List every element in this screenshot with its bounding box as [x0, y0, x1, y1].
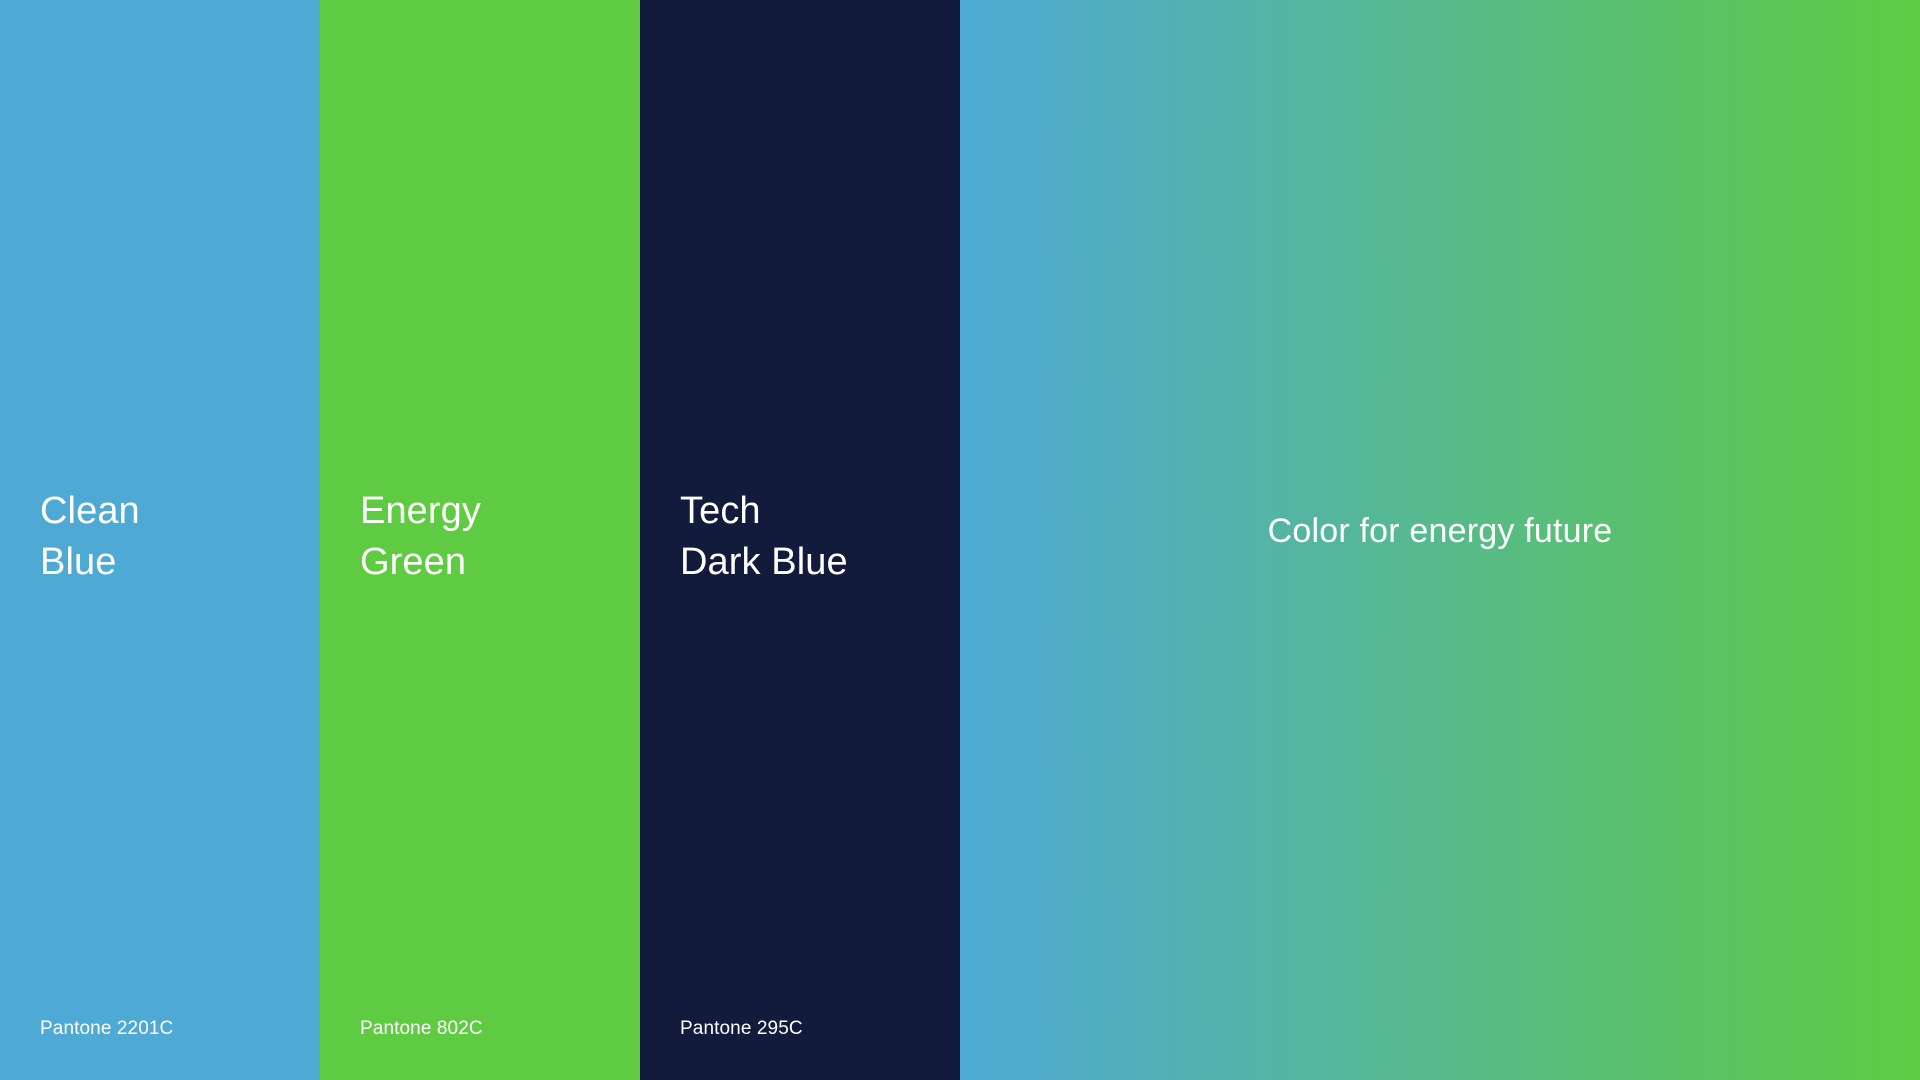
gradient-panel: Color for energy future	[960, 0, 1920, 1080]
swatch-name-clean-blue: Clean Blue	[40, 486, 140, 588]
swatch-pantone-code-energy-green: Pantone 802C	[360, 1016, 483, 1042]
swatch-name-energy-green: Energy Green	[360, 486, 481, 588]
color-palette-board: Clean Blue Pantone 2201C Energy Green Pa…	[0, 0, 1920, 1080]
color-swatch-clean-blue[interactable]: Clean Blue Pantone 2201C	[0, 0, 320, 1080]
swatch-name-tech-dark-blue: Tech Dark Blue	[680, 486, 848, 588]
color-swatch-energy-green[interactable]: Energy Green Pantone 802C	[320, 0, 640, 1080]
swatch-pantone-code-clean-blue: Pantone 2201C	[40, 1016, 173, 1042]
swatch-pantone-code-tech-dark-blue: Pantone 295C	[680, 1016, 803, 1042]
gradient-tagline: Color for energy future	[1268, 508, 1613, 554]
color-swatch-tech-dark-blue[interactable]: Tech Dark Blue Pantone 295C	[640, 0, 960, 1080]
